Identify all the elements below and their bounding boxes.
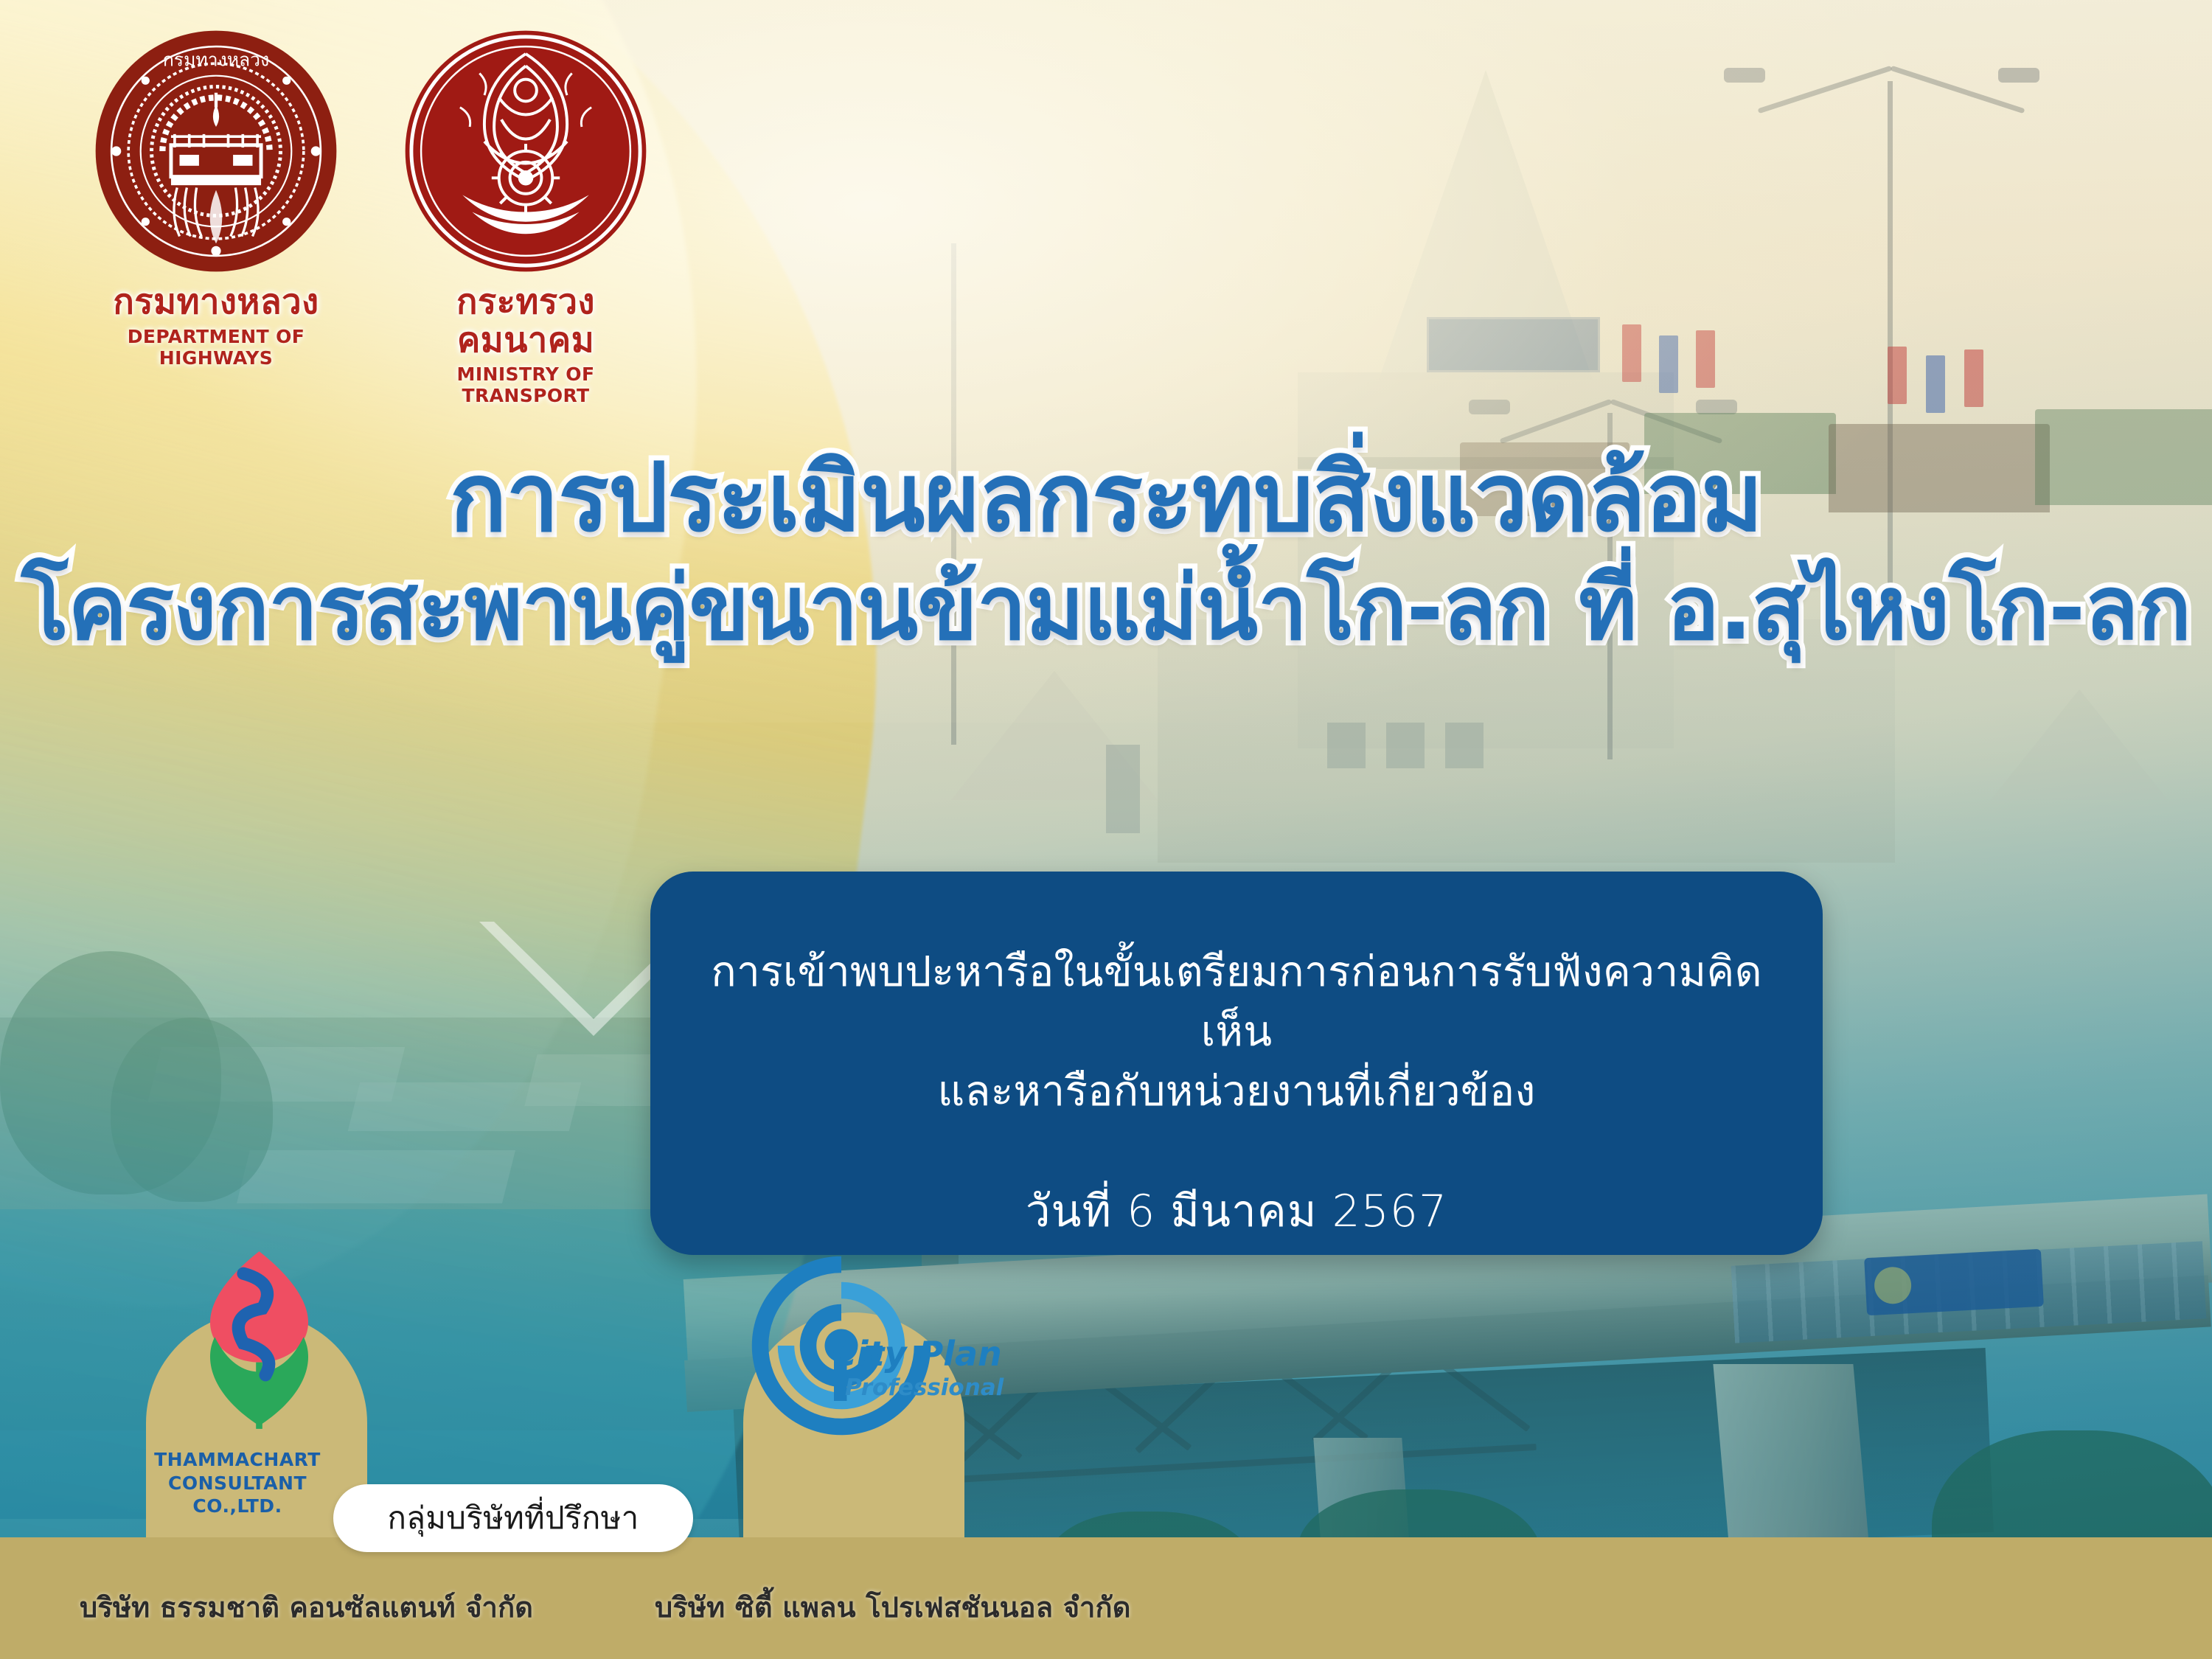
logo-english-label: MINISTRY OF TRANSPORT xyxy=(404,364,647,406)
consultant-group-pill: กลุ่มบริษัทที่ปรึกษา xyxy=(333,1484,693,1552)
cityplan-text-main: City Plan xyxy=(832,1334,1002,1374)
doh-seal-icon: กรมทางหลวง xyxy=(94,29,338,273)
logo-thai-label: กรมทางหลวง xyxy=(94,283,338,321)
card-heading-line-1: การเข้าพบปะหารือในขั้นเตรียมการก่อนการรั… xyxy=(695,942,1778,1062)
card-date: วันที่ 6 มีนาคม 2567 xyxy=(1026,1176,1447,1246)
consultant-name-thammachart: บริษัท ธรรมชาติ คอนซัลแตนท์ จำกัด xyxy=(80,1585,533,1630)
logo-thai-label: กระทรวงคมนาคม xyxy=(404,283,647,359)
slide-title: การประเมินผลกระทบสิ่งแวดล้อม โครงการสะพา… xyxy=(0,448,2212,655)
cityplan-logo-text: City Plan Professional xyxy=(832,1337,1004,1399)
consultant-name-cityplan: บริษัท ซิตี้ แพลน โปรเฟสชันนอล จำกัด xyxy=(655,1585,1131,1630)
svg-text:กรมทางหลวง: กรมทางหลวง xyxy=(163,49,269,71)
thammachart-caption-line1: THAMMACHART xyxy=(154,1449,321,1470)
cityplan-text-sub: Professional xyxy=(845,1377,1004,1399)
thammachart-caption-line2: CONSULTANT CO.,LTD. xyxy=(168,1472,307,1517)
agency-logos: กรมทางหลวง กรมทางหลวง DEPARTMENT OF HIGH… xyxy=(94,29,647,406)
consultant-group-label: กลุ่มบริษัทที่ปรึกษา xyxy=(388,1494,639,1543)
subject-card: การเข้าพบปะหารือในขั้นเตรียมการก่อนการรั… xyxy=(650,872,1823,1255)
card-heading-line-2: และหารือกับหน่วยงานที่เกี่ยวข้อง xyxy=(938,1062,1536,1121)
logo-department-of-highways: กรมทางหลวง กรมทางหลวง DEPARTMENT OF HIGH… xyxy=(94,29,338,369)
mot-seal-icon xyxy=(404,29,647,273)
thammachart-logo-caption: THAMMACHART CONSULTANT CO.,LTD. xyxy=(127,1448,348,1517)
logo-ministry-of-transport: กระทรวงคมนาคม MINISTRY OF TRANSPORT xyxy=(404,29,647,406)
thammachart-leaf-icon xyxy=(180,1242,338,1438)
title-line-2: โครงการสะพานคู่ขนานข้ามแม่น้ำโก-ลก ที่ อ… xyxy=(0,562,2212,655)
presentation-slide: กรมทางหลวง กรมทางหลวง DEPARTMENT OF HIGH… xyxy=(0,0,2212,1659)
title-line-1: การประเมินผลกระทบสิ่งแวดล้อม xyxy=(0,448,2212,549)
logo-english-label: DEPARTMENT OF HIGHWAYS xyxy=(94,326,338,369)
